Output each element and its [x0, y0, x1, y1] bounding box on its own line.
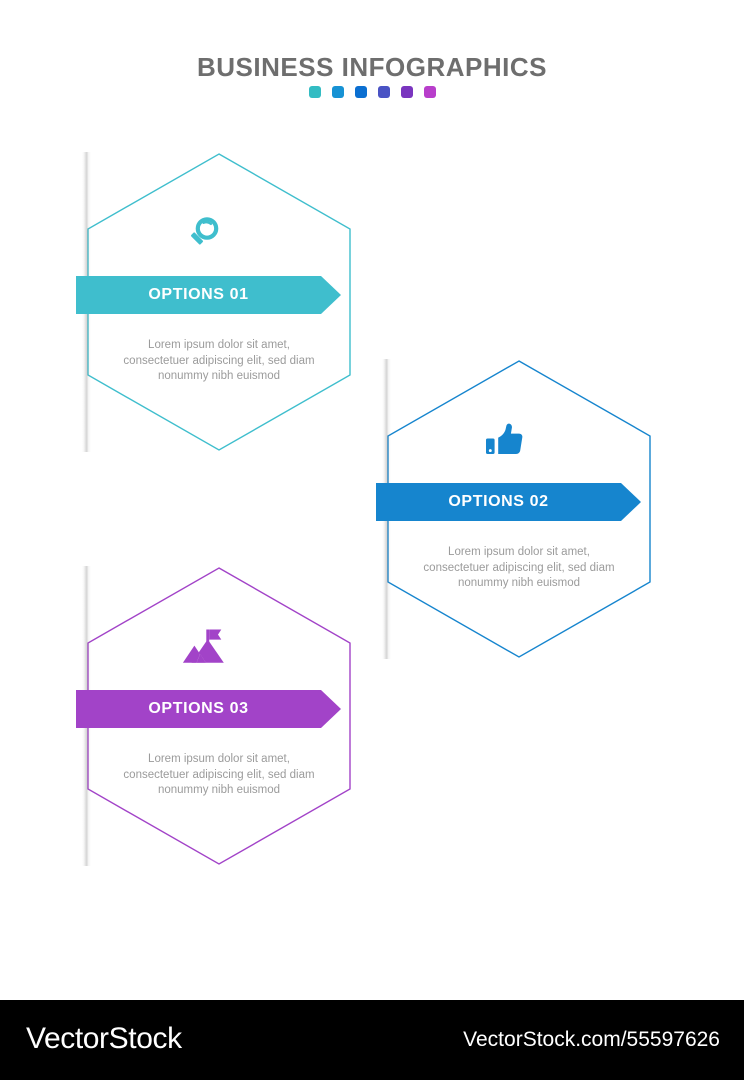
banner-arrow-tip-options-02	[621, 483, 641, 521]
footer-brand-label: VectorStock	[26, 1022, 182, 1056]
banner-arrow-tip-options-01	[321, 276, 341, 314]
header-dot-row	[0, 86, 744, 98]
dot-4	[378, 86, 390, 98]
step-label-options-01: OPTIONS 01	[148, 286, 248, 304]
dot-6	[424, 86, 436, 98]
page-title: BUSINESS INFOGRAPHICS	[0, 52, 744, 83]
footer-url-label: VectorStock.com/55597626	[463, 1028, 720, 1052]
magnifier-icon	[174, 207, 234, 259]
banner-body-options-02: OPTIONS 02	[376, 483, 621, 521]
step-label-options-03: OPTIONS 03	[148, 700, 248, 718]
step-banner-options-03[interactable]: OPTIONS 03	[76, 690, 341, 728]
watermark-footer: VectorStock VectorStock.com/55597626	[0, 1000, 744, 1080]
step-banner-options-02[interactable]: OPTIONS 02	[376, 483, 641, 521]
banner-body-options-01: OPTIONS 01	[76, 276, 321, 314]
step-label-options-02: OPTIONS 02	[448, 493, 548, 511]
step-options-02[interactable]: OPTIONS 02Lorem ipsum dolor sit amet, co…	[386, 359, 652, 659]
step-options-01[interactable]: OPTIONS 01Lorem ipsum dolor sit amet, co…	[86, 152, 352, 452]
step-description-options-02: Lorem ipsum dolor sit amet, consectetuer…	[414, 545, 624, 592]
banner-body-options-03: OPTIONS 03	[76, 690, 321, 728]
step-description-options-01: Lorem ipsum dolor sit amet, consectetuer…	[114, 338, 324, 385]
step-banner-options-01[interactable]: OPTIONS 01	[76, 276, 341, 314]
dot-2	[332, 86, 344, 98]
dot-1	[309, 86, 321, 98]
step-options-03[interactable]: OPTIONS 03Lorem ipsum dolor sit amet, co…	[86, 566, 352, 866]
header: BUSINESS INFOGRAPHICS	[0, 0, 744, 120]
thumbs-up-icon	[474, 414, 534, 466]
banner-arrow-tip-options-03	[321, 690, 341, 728]
dot-3	[355, 86, 367, 98]
mountain-flag-icon	[174, 621, 234, 673]
step-description-options-03: Lorem ipsum dolor sit amet, consectetuer…	[114, 752, 324, 799]
dot-5	[401, 86, 413, 98]
